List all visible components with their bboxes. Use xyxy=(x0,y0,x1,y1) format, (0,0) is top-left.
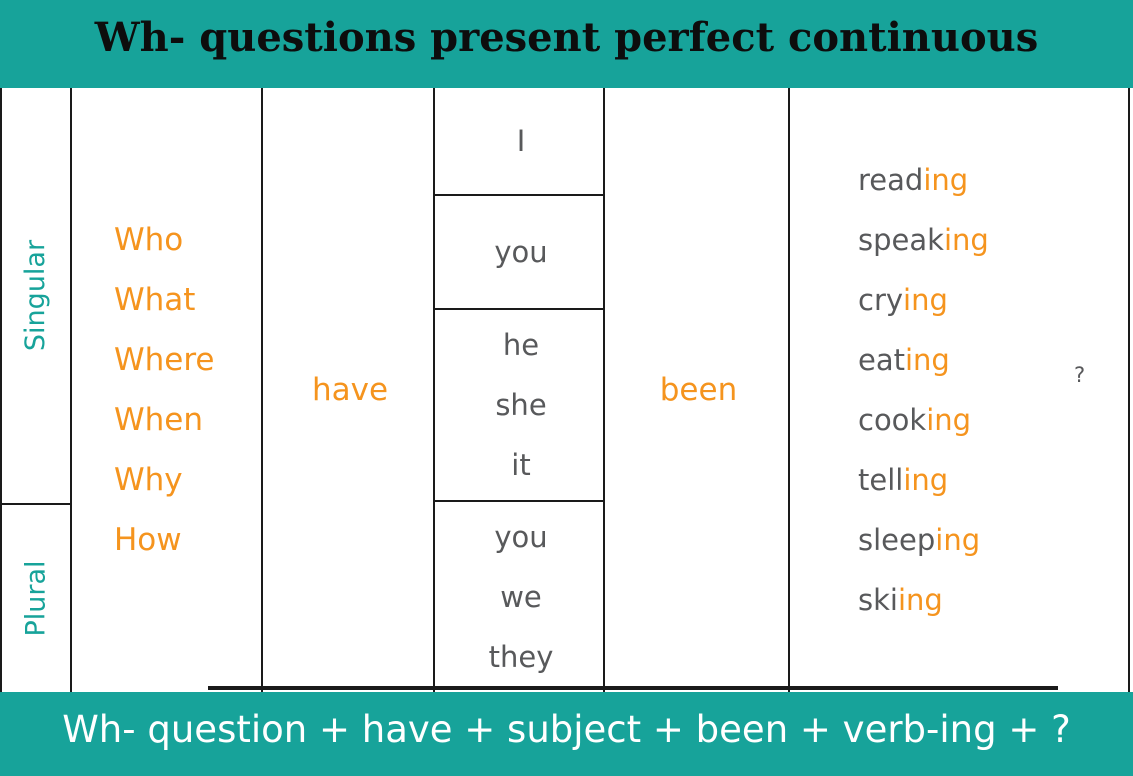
subject-word-i: I xyxy=(517,111,526,171)
table-body: Singular Plural Who What Where When Why … xyxy=(0,88,1133,692)
verb-suffix-speak: ing xyxy=(944,223,989,257)
wh-word-how: How xyxy=(114,510,263,570)
verb-stem-ski: ski xyxy=(858,583,898,617)
wh-word-where: Where xyxy=(114,330,263,390)
page-title: Wh- questions present perfect continuous xyxy=(0,14,1133,61)
subject-cell-you-singular: you xyxy=(437,196,605,308)
wh-word-why: Why xyxy=(114,450,263,510)
verb-suffix-cry: ing xyxy=(903,283,948,317)
wh-word-what: What xyxy=(114,270,263,330)
verb-sleeping: sleeping xyxy=(858,510,1131,570)
formula-summary: Wh- question + have + subject + been + v… xyxy=(0,708,1133,751)
verb-suffix-read: ing xyxy=(923,163,968,197)
subject-word-you-plural: you xyxy=(494,507,547,567)
number-label-plural: Plural xyxy=(21,560,52,636)
subject-word-it: it xyxy=(511,435,530,495)
verb-suffix-tell: ing xyxy=(903,463,948,497)
question-mark: ? xyxy=(1074,363,1085,387)
verb-speaking: speaking xyxy=(858,210,1131,270)
number-cell-plural: Plural xyxy=(2,505,70,692)
verb-suffix-ski: ing xyxy=(898,583,943,617)
number-label-singular: Singular xyxy=(21,240,52,351)
subject-word-you-singular: you xyxy=(494,222,547,282)
verb-suffix-eat: ing xyxy=(905,343,950,377)
grammar-table-page: Wh- questions present perfect continuous… xyxy=(0,0,1133,776)
verb-stem-speak: speak xyxy=(858,223,944,257)
participle-word-been: been xyxy=(660,372,737,408)
auxiliary-word-have: have xyxy=(312,372,388,408)
verb-stem-eat: eat xyxy=(858,343,905,377)
wh-words-column: Who What Where When Why How xyxy=(74,88,263,692)
wh-word-when: When xyxy=(114,390,263,450)
verb-stem-cook: cook xyxy=(858,403,926,437)
subject-word-he: he xyxy=(503,315,539,375)
subject-word-they: they xyxy=(489,627,554,687)
verb-stem-tell: tell xyxy=(858,463,903,497)
subject-word-we: we xyxy=(500,567,542,627)
verb-reading: reading xyxy=(858,150,1131,210)
verb-cooking: cooking xyxy=(858,390,1131,450)
verb-ing-column: reading speaking crying eating cooking t… xyxy=(792,88,1131,692)
subject-cell-he-she-it: he she it xyxy=(437,310,605,500)
verb-stem-sleep: sleep xyxy=(858,523,935,557)
verb-skiing: skiing xyxy=(858,570,1131,630)
subject-cell-i: I xyxy=(437,88,605,194)
wh-word-who: Who xyxy=(114,210,263,270)
verb-stem-cry: cry xyxy=(858,283,903,317)
number-cell-singular: Singular xyxy=(2,88,70,503)
verb-suffix-cook: ing xyxy=(926,403,971,437)
participle-column: been xyxy=(607,88,790,692)
verb-telling: telling xyxy=(858,450,1131,510)
verb-stem-read: read xyxy=(858,163,923,197)
subject-word-she: she xyxy=(495,375,546,435)
subject-cell-you-we-they: you we they xyxy=(437,502,605,692)
column-rule-number xyxy=(70,88,72,692)
verb-crying: crying xyxy=(858,270,1131,330)
auxiliary-column: have xyxy=(265,88,435,692)
verb-suffix-sleep: ing xyxy=(935,523,980,557)
verb-eating: eating xyxy=(858,330,1131,390)
